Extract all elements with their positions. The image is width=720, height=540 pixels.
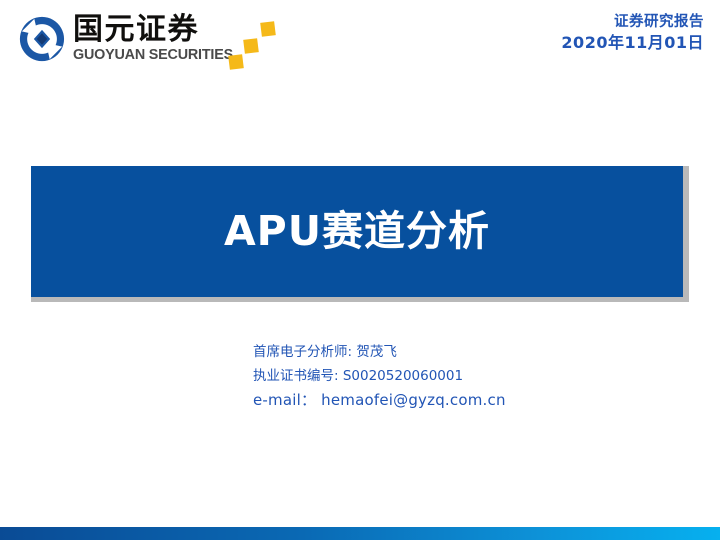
page-title: APU赛道分析 xyxy=(224,207,490,255)
square-icon-1 xyxy=(260,21,276,37)
brand-wordmark: 国元证券 GUOYUAN SECURITIES xyxy=(73,14,235,63)
square-icon-3 xyxy=(228,54,244,70)
title-banner: APU赛道分析 xyxy=(31,166,683,297)
guoyuan-logo-mark xyxy=(18,15,66,63)
square-icon-2 xyxy=(243,38,259,54)
analyst-email-line: e-mail： hemaofei@gyzq.com.cn xyxy=(253,388,506,412)
brand-name-en: GUOYUAN SECURITIES xyxy=(73,47,233,63)
report-type-label: 证券研究报告 xyxy=(561,12,704,32)
brand-name-cn: 国元证券 xyxy=(73,14,235,46)
brand-logo: 国元证券 GUOYUAN SECURITIES xyxy=(18,14,235,63)
analyst-info: 首席电子分析师: 贺茂飞 执业证书编号: S0020520060001 e-ma… xyxy=(253,340,506,412)
report-meta: 证券研究报告 2020年11月01日 xyxy=(561,12,704,54)
analyst-license-line: 执业证书编号: S0020520060001 xyxy=(253,364,506,388)
page-header: 国元证券 GUOYUAN SECURITIES 证券研究报告 2020年11月0… xyxy=(0,0,720,86)
footer-gradient-bar xyxy=(0,527,720,540)
analyst-name-line: 首席电子分析师: 贺茂飞 xyxy=(253,340,506,364)
report-date: 2020年11月01日 xyxy=(561,32,704,54)
decorative-squares xyxy=(225,18,295,82)
